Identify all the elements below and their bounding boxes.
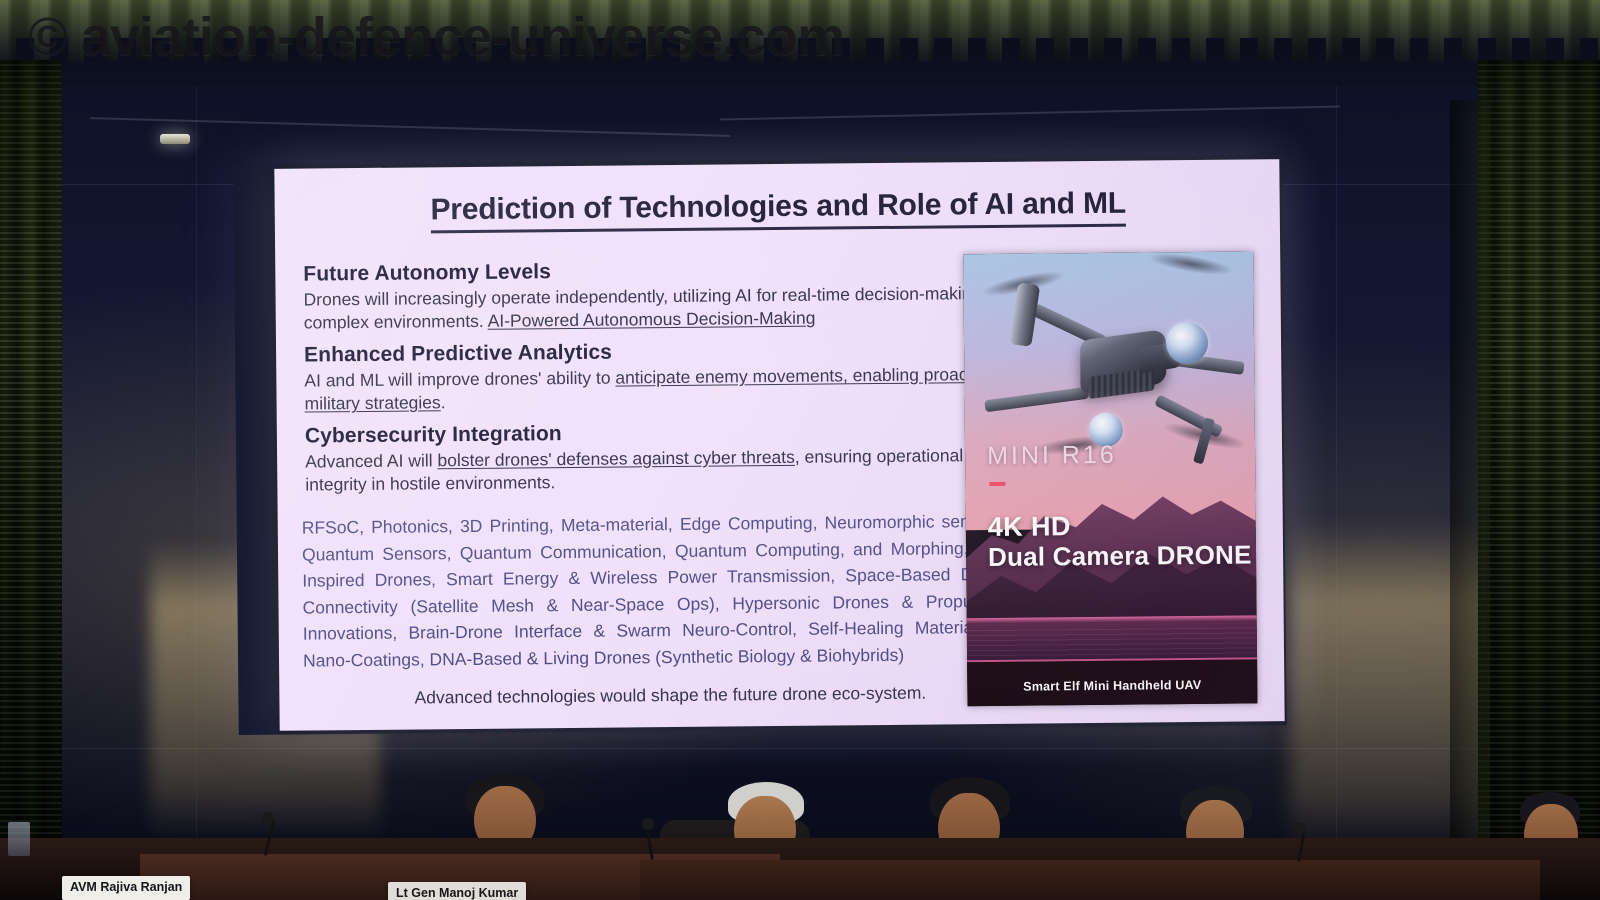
section-body-text: Advanced AI will xyxy=(305,450,437,471)
section-body-underlined: bolster drones' defenses against cyber t… xyxy=(437,447,795,470)
microphone-head xyxy=(1294,822,1306,834)
slide-title-row: Prediction of Technologies and Role of A… xyxy=(302,177,1253,240)
section-body-cybersecurity: Advanced AI will bolster drones' defense… xyxy=(305,444,1005,498)
nameplate-avm-rajiva-ranjan: AVM Rajiva Ranjan xyxy=(62,876,190,900)
section-body-text: AI and ML will improve drones' ability t… xyxy=(304,367,615,390)
slide-content: Prediction of Technologies and Role of A… xyxy=(274,159,1284,731)
drone-arm xyxy=(984,387,1089,413)
valance-lower-shadow xyxy=(0,62,1600,86)
product-feature-line1: 4K HD xyxy=(988,511,1071,543)
stage-curtain-left xyxy=(0,60,62,900)
drone-camera-lens-front xyxy=(1166,322,1208,364)
section-body-underlined: AI-Powered Autonomous Decision-Making xyxy=(488,308,816,331)
dais-table-front-right xyxy=(640,860,1540,900)
conference-photo-scene: Prediction of Technologies and Role of A… xyxy=(0,0,1600,900)
stage-curtain-right-inner xyxy=(1450,100,1490,900)
stage-spotlight xyxy=(160,134,190,144)
microphone-head xyxy=(642,818,654,830)
curtain-shade xyxy=(0,60,62,900)
nameplate-second: Lt Gen Manoj Kumar xyxy=(388,882,526,900)
slide-title: Prediction of Technologies and Role of A… xyxy=(430,187,1126,234)
technologies-paragraph: RFSoC, Photonics, 3D Printing, Meta-mate… xyxy=(302,508,1009,674)
slide-closing-line: Advanced technologies would shape the fu… xyxy=(325,682,1015,710)
product-caption: Smart Elf Mini Handheld UAV xyxy=(967,677,1257,694)
section-body-tail: . xyxy=(441,393,446,413)
product-model-name: MINI R16 xyxy=(987,441,1117,471)
microphone-head xyxy=(262,812,274,824)
presentation-slide: Prediction of Technologies and Role of A… xyxy=(274,159,1284,731)
section-body-future-autonomy: Drones will increasingly operate indepen… xyxy=(303,282,1003,336)
slide-body-column: Future Autonomy Levels Drones will incre… xyxy=(303,248,1005,499)
curtain-shade xyxy=(1478,60,1600,900)
product-accent-dash xyxy=(989,482,1005,486)
product-feature-line2: Dual Camera DRONE xyxy=(988,539,1252,573)
drone-illustration xyxy=(983,260,1243,467)
product-image-drone: MINI R16 4K HD Dual Camera DRONE Smart E… xyxy=(963,251,1257,706)
water-glass xyxy=(8,822,30,856)
stage-curtain-right xyxy=(1478,60,1600,900)
section-body-predictive-analytics: AI and ML will improve drones' ability t… xyxy=(304,363,1004,417)
